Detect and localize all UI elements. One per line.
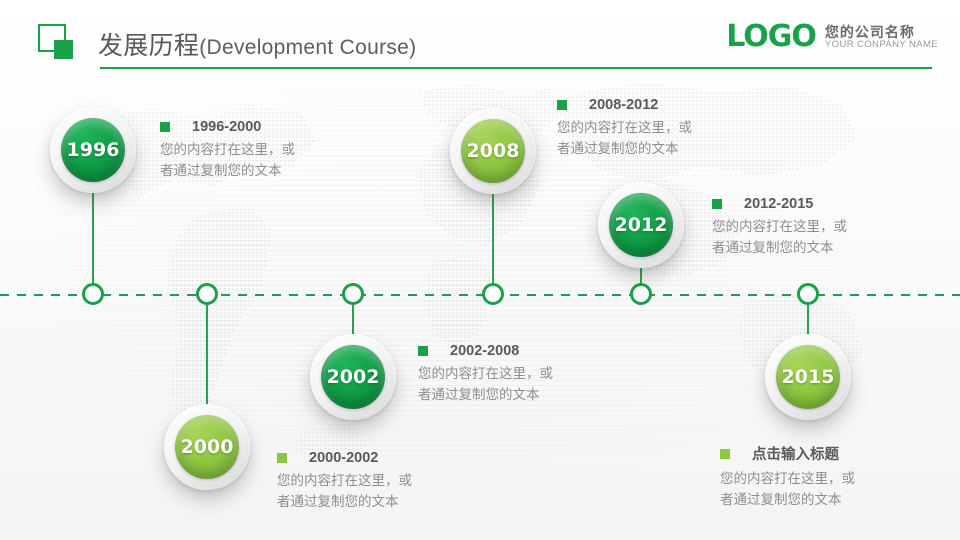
- milestone-body: 您的内容打在这里，或 者通过复制您的文本: [712, 217, 847, 259]
- company-logo: LOGO 您的公司名称 YOUR CONPANY NAME: [726, 22, 938, 52]
- timeline-node-6[interactable]: [797, 283, 819, 305]
- milestone-disc: 2012: [609, 193, 673, 257]
- milestone-body: 您的内容打在这里，或 者通过复制您的文本: [160, 140, 295, 182]
- milestone-circle-2002[interactable]: 2002: [310, 334, 396, 420]
- milestone-title-text: 2008-2012: [589, 97, 658, 113]
- milestone-title: 1996-2000: [160, 119, 295, 135]
- connector-stem-2012: [640, 267, 642, 284]
- milestone-ring: 2000: [164, 404, 250, 490]
- milestone-year-label: 1996: [67, 139, 120, 161]
- bullet-square-icon: [712, 199, 722, 209]
- milestone-body-line2: 者通过复制您的文本: [712, 238, 847, 259]
- company-name-cn: 您的公司名称: [825, 25, 938, 41]
- slide-canvas: 发展历程(Development Course) LOGO 您的公司名称 YOU…: [0, 0, 960, 540]
- timeline-node-5[interactable]: [630, 283, 652, 305]
- page-title-cn: 发展历程: [98, 32, 199, 60]
- header-divider: [100, 67, 932, 69]
- milestone-circle-2015[interactable]: 2015: [765, 334, 851, 420]
- milestone-body-line1: 您的内容打在这里，或: [418, 364, 553, 385]
- milestone-year-label: 2008: [467, 140, 520, 162]
- connector-stem-2015: [807, 305, 809, 335]
- timeline-node-2[interactable]: [196, 283, 218, 305]
- milestone-disc: 2000: [175, 415, 239, 479]
- milestone-body-line2: 者通过复制您的文本: [720, 490, 855, 511]
- milestone-body-line2: 者通过复制您的文本: [418, 385, 553, 406]
- square-logo-icon: [38, 24, 72, 58]
- milestone-body-line2: 者通过复制您的文本: [160, 161, 295, 182]
- milestone-title: 2002-2008: [418, 343, 553, 359]
- milestone-body-line2: 者通过复制您的文本: [277, 492, 412, 513]
- bullet-square-icon: [418, 346, 428, 356]
- connector-stem-1996: [92, 192, 94, 284]
- milestone-circle-2000[interactable]: 2000: [164, 404, 250, 490]
- timeline-node-4[interactable]: [482, 283, 504, 305]
- milestone-year-label: 2002: [327, 366, 380, 388]
- milestone-body-line1: 您的内容打在这里，或: [712, 217, 847, 238]
- bullet-square-icon: [277, 453, 287, 463]
- milestone-text-2008-2012[interactable]: 2008-2012 您的内容打在这里，或 者通过复制您的文本: [557, 97, 692, 160]
- milestone-circle-2012[interactable]: 2012: [598, 182, 684, 268]
- milestone-ring: 1996: [50, 107, 136, 193]
- milestone-title: 2012-2015: [712, 196, 847, 212]
- milestone-ring: 2002: [310, 334, 396, 420]
- milestone-disc: 2015: [776, 345, 840, 409]
- milestone-body: 您的内容打在这里，或 者通过复制您的文本: [720, 469, 855, 511]
- bullet-square-icon: [557, 100, 567, 110]
- milestone-body-line2: 者通过复制您的文本: [557, 139, 692, 160]
- milestone-title-text: 点击输入标题: [752, 443, 839, 464]
- milestone-body-line1: 您的内容打在这里，或: [557, 118, 692, 139]
- milestone-text-2000-2002[interactable]: 2000-2002 您的内容打在这里，或 者通过复制您的文本: [277, 450, 412, 513]
- milestone-title: 2000-2002: [277, 450, 412, 466]
- milestone-circle-2008[interactable]: 2008: [450, 108, 536, 194]
- milestone-title-text: 2000-2002: [309, 450, 378, 466]
- milestone-title: 点击输入标题: [720, 443, 855, 464]
- milestone-body: 您的内容打在这里，或 者通过复制您的文本: [277, 471, 412, 513]
- page-title: 发展历程(Development Course): [98, 26, 416, 62]
- page-title-en: (Development Course): [199, 36, 416, 59]
- timeline-node-1[interactable]: [82, 283, 104, 305]
- milestone-body-line1: 您的内容打在这里，或: [277, 471, 412, 492]
- milestone-ring: 2015: [765, 334, 851, 420]
- milestone-year-label: 2000: [181, 436, 234, 458]
- milestone-disc: 2002: [321, 345, 385, 409]
- slide-header: 发展历程(Development Course) LOGO 您的公司名称 YOU…: [0, 0, 960, 72]
- milestone-title-text: 1996-2000: [192, 119, 261, 135]
- milestone-disc: 2008: [461, 119, 525, 183]
- milestone-text-1996-2000[interactable]: 1996-2000 您的内容打在这里，或 者通过复制您的文本: [160, 119, 295, 182]
- square-filled-shape: [54, 40, 73, 59]
- milestone-disc: 1996: [61, 118, 125, 182]
- milestone-title-text: 2012-2015: [744, 196, 813, 212]
- connector-stem-2008: [492, 193, 494, 284]
- timeline-node-3[interactable]: [342, 283, 364, 305]
- milestone-body-line1: 您的内容打在这里，或: [160, 140, 295, 161]
- milestone-title: 2008-2012: [557, 97, 692, 113]
- milestone-year-label: 2015: [782, 366, 835, 388]
- milestone-text-2012-2015[interactable]: 2012-2015 您的内容打在这里，或 者通过复制您的文本: [712, 196, 847, 259]
- milestone-text-custom-title[interactable]: 点击输入标题 您的内容打在这里，或 者通过复制您的文本: [720, 443, 855, 511]
- milestone-body: 您的内容打在这里，或 者通过复制您的文本: [557, 118, 692, 160]
- milestone-circle-1996[interactable]: 1996: [50, 107, 136, 193]
- bullet-square-icon: [160, 122, 170, 132]
- company-name-block: 您的公司名称 YOUR CONPANY NAME: [825, 25, 938, 52]
- milestone-text-2002-2008[interactable]: 2002-2008 您的内容打在这里，或 者通过复制您的文本: [418, 343, 553, 406]
- connector-stem-2000: [206, 305, 208, 405]
- milestone-body: 您的内容打在这里，或 者通过复制您的文本: [418, 364, 553, 406]
- milestone-ring: 2012: [598, 182, 684, 268]
- bullet-square-icon: [720, 449, 730, 459]
- milestone-year-label: 2012: [615, 214, 668, 236]
- logo-mark-text: LOGO: [726, 22, 816, 52]
- milestone-body-line1: 您的内容打在这里，或: [720, 469, 855, 490]
- company-name-en: YOUR CONPANY NAME: [825, 40, 938, 51]
- milestone-title-text: 2002-2008: [450, 343, 519, 359]
- connector-stem-2002: [352, 305, 354, 335]
- milestone-ring: 2008: [450, 108, 536, 194]
